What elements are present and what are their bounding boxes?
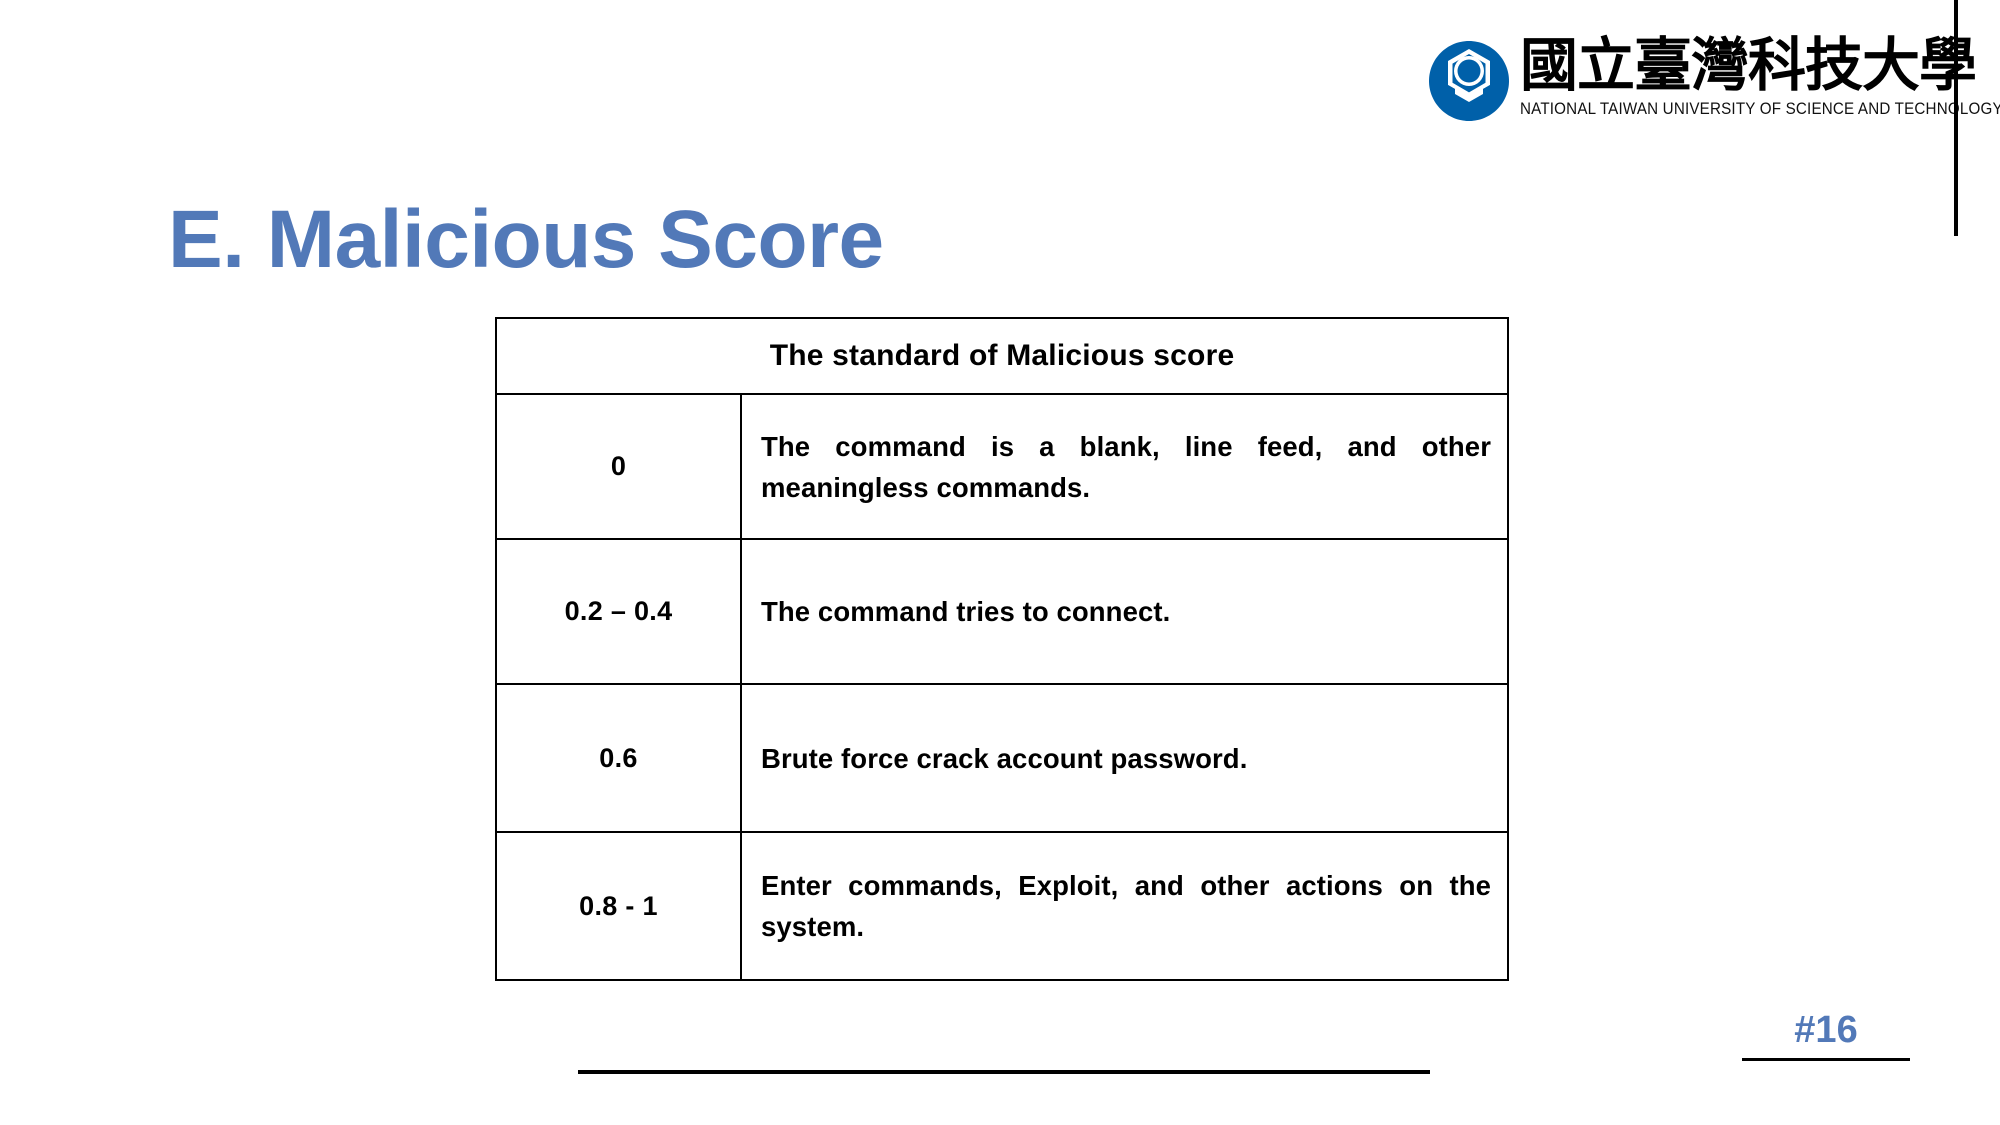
page-number-underline — [1742, 1058, 1910, 1061]
footer-divider-rule — [578, 1070, 1430, 1074]
ntust-emblem-icon — [1428, 40, 1510, 122]
malicious-score-table: The standard of Malicious score 0 The co… — [495, 317, 1509, 981]
table-row: 0 The command is a blank, line feed, and… — [496, 394, 1508, 539]
logo-english-name: NATIONAL TAIWAN UNIVERSITY OF SCIENCE AN… — [1520, 99, 1895, 119]
score-cell: 0.2 – 0.4 — [496, 539, 741, 684]
page-number: #16 — [1742, 1008, 1910, 1052]
table-title-cell: The standard of Malicious score — [496, 318, 1508, 394]
table-row: 0.8 - 1 Enter commands, Exploit, and oth… — [496, 832, 1508, 980]
description-cell: Enter commands, Exploit, and other actio… — [741, 832, 1508, 980]
page-title: E. Malicious Score — [168, 195, 884, 285]
score-cell: 0.6 — [496, 684, 741, 832]
slide: 國立臺灣科技大學 NATIONAL TAIWAN UNIVERSITY OF S… — [0, 0, 2000, 1125]
logo-text: 國立臺灣科技大學 NATIONAL TAIWAN UNIVERSITY OF S… — [1520, 32, 1928, 119]
vertical-divider-rule — [1954, 0, 1958, 236]
score-cell: 0 — [496, 394, 741, 539]
table-row: 0.6 Brute force crack account password. — [496, 684, 1508, 832]
table-header-row: The standard of Malicious score — [496, 318, 1508, 394]
university-logo: 國立臺灣科技大學 NATIONAL TAIWAN UNIVERSITY OF S… — [1428, 28, 1928, 128]
description-cell: Brute force crack account password. — [741, 684, 1508, 832]
logo-chinese-name: 國立臺灣科技大學 — [1520, 32, 1928, 98]
score-cell: 0.8 - 1 — [496, 832, 741, 980]
description-cell: The command tries to connect. — [741, 539, 1508, 684]
description-cell: The command is a blank, line feed, and o… — [741, 394, 1508, 539]
table-row: 0.2 – 0.4 The command tries to connect. — [496, 539, 1508, 684]
